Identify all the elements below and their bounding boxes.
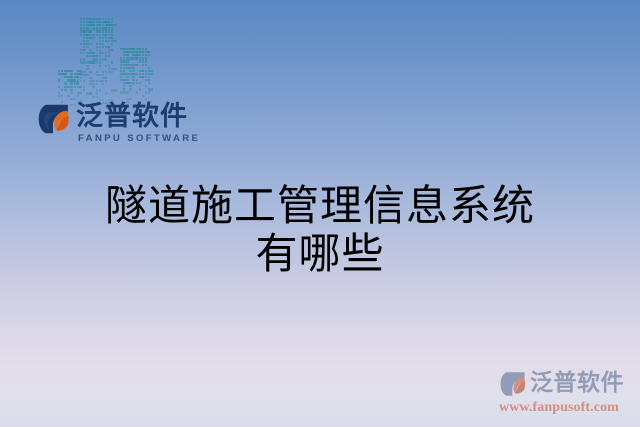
pixel-block [89,49,91,51]
pixel-block [123,79,125,81]
pixel-block [120,76,122,78]
pixel-block [96,34,98,36]
pixel-block [58,70,60,72]
pixel-block [89,21,91,23]
pixel-block [99,24,101,26]
pixel-block [99,34,101,36]
pixel-block [148,73,154,75]
pixel-block [96,30,102,32]
pixel-block [126,48,128,50]
pixel-block [148,88,154,90]
pixel-block [108,27,110,29]
pixel-block [129,57,131,59]
pixel-block [126,57,128,59]
pixel-block [58,92,60,94]
pixel-block [123,48,125,50]
pixel-block [86,68,88,70]
pixel-block [86,46,88,48]
pixel-block [129,82,135,84]
pixel-block [145,91,147,93]
pixel-block [86,65,88,67]
pixel-block [126,82,128,84]
pixel-block [64,70,66,72]
pixel-block [99,37,101,39]
pixel-block [83,43,89,45]
pixel-block [102,40,104,42]
pixel-block [80,71,86,73]
pixel-block [126,79,128,81]
page-title: 隧道施工管理信息系统 有哪些 [0,183,640,279]
pixel-block [111,27,113,29]
pixel-block [58,86,60,88]
pixel-block [99,21,101,23]
pixel-block [102,30,104,32]
pixel-block [142,76,144,78]
pixel-block [145,64,147,66]
pixel-block [86,34,88,36]
pixel-block [111,18,113,20]
pixel-block [120,64,122,66]
pixel-block [80,24,82,26]
pixel-block [105,34,107,36]
pixel-block [120,60,126,62]
pixel-block [92,21,94,23]
pixel-block [61,70,63,72]
pixel-block [67,95,69,97]
pixel-block [129,64,131,66]
pixel-block [120,57,122,59]
pixel-block [96,89,98,91]
pixel-block [70,73,72,75]
pixel-block [99,18,101,20]
pixel-block [99,58,101,60]
watermark-brand-name: 泛普软件 [530,368,624,396]
pixel-block [99,43,105,45]
pixel-block [111,49,113,51]
pixel-block [77,92,83,94]
pixel-block [77,76,79,78]
pixel-block [145,57,147,59]
pixel-block [92,37,94,39]
pixel-block [108,71,114,73]
pixel-block [132,48,134,50]
pixel-block [111,30,113,32]
pixel-block [142,70,144,72]
pixel-block [139,82,141,84]
pixel-block [123,85,125,87]
pixel-block [70,92,72,94]
pixel-block [89,34,95,36]
pixel-block [83,86,85,88]
pixel-block [148,67,150,69]
pixel-block [132,67,134,69]
pixel-block [108,18,110,20]
pixel-block [136,91,138,93]
pixel-block [142,48,144,50]
pixel-block [132,79,134,81]
pixel-block [123,70,125,72]
pixel-block [126,51,132,53]
pixel-block [89,80,95,82]
pixel-block [80,18,82,20]
pixel-block [120,70,122,72]
pixel-block [123,88,125,90]
pixel-block [102,71,104,73]
pixel-block [139,60,141,62]
pixel-block [96,43,98,45]
pixel-block [102,58,108,60]
pixel-block [126,54,128,56]
watermark: 泛普软件 www.fanpusoft.com [498,366,634,422]
pixel-block [108,52,110,54]
pixel-block [105,65,107,67]
pixel-block [86,74,88,76]
pixel-block [74,82,80,84]
pixel-block [96,49,98,51]
pixel-block [86,40,88,42]
pixel-block [139,88,141,90]
pixel-block [96,55,98,57]
pixel-block [108,40,110,42]
pixel-block [120,91,126,93]
pixel-block [89,92,91,94]
pixel-block [108,21,110,23]
pixel-block [145,48,147,50]
pixel-block [99,49,101,51]
fanpu-logo-mark-icon [38,102,72,136]
pixel-block [148,91,150,93]
pixel-block [145,73,147,75]
brand-name-english: FANPU SOFTWARE [78,133,200,144]
pixel-block [74,86,76,88]
pixel-block [102,18,104,20]
pixel-block [83,89,85,91]
poster-canvas: 泛普软件 FANPU SOFTWARE 隧道施工管理信息系统 有哪些 泛普软件 … [0,0,640,427]
pixel-block [92,86,94,88]
pixel-block [136,57,138,59]
watermark-url: www.fanpusoft.com [499,400,619,416]
pixel-block [83,30,85,32]
pixel-block [96,96,98,98]
pixel-block [89,43,91,45]
pixel-block [145,70,147,72]
pixel-block [89,37,91,39]
pixel-block [70,70,72,72]
pixel-block [80,43,82,45]
pixel-block [92,83,94,85]
pixel-block [96,92,98,94]
pixel-block [111,43,113,45]
pixel-block [145,60,147,62]
pixel-block [80,80,82,82]
pixel-block [105,40,107,42]
pixel-block [145,54,147,56]
pixel-block [139,73,141,75]
pixel-block [83,58,85,60]
pixel-block [136,79,138,81]
pixel-block [129,67,131,69]
pixel-block [105,30,107,32]
pixel-block [108,65,110,67]
pixel-block [92,52,94,54]
pixel-block [96,46,98,48]
pixel-block [89,18,91,20]
pixel-block [136,54,142,56]
pixel-block [83,37,85,39]
pixel-block [61,95,63,97]
pixel-block [126,91,128,93]
pixel-block [83,46,85,48]
pixel-block [148,54,150,56]
pixel-block [83,24,85,26]
pixel-block [58,79,60,81]
pixel-block [148,79,150,81]
pixel-block [80,74,86,76]
pixel-block [99,27,101,29]
pixel-block [142,95,144,97]
pixel-block [148,82,150,84]
pixel-block [99,40,101,42]
pixel-block [139,57,141,59]
pixel-block [111,34,113,36]
brand-name-chinese: 泛普软件 [76,100,188,132]
pixel-block [142,51,144,53]
pixel-block [74,79,76,81]
pixel-block [108,46,110,48]
pixel-block [86,55,88,57]
pixel-block [142,64,144,66]
pixel-block [77,86,83,88]
pixel-block [92,24,94,26]
pixel-block [83,52,85,54]
pixel-block [96,27,98,29]
pixel-block [99,80,105,82]
pixel-block [105,92,107,94]
pixel-block [108,30,110,32]
pixel-block [83,27,85,29]
pixel-block [105,18,107,20]
pixel-block [120,67,122,69]
pixel-block [102,24,104,26]
pixel-block [111,24,117,26]
pixel-block [61,89,63,91]
pixel-block [102,83,104,85]
pixel-block [148,76,150,78]
pixel-block [108,55,110,57]
brand-logo-lockup: 泛普软件 FANPU SOFTWARE [38,100,188,152]
pixel-block [77,95,79,97]
pixel-block [58,95,60,97]
pixel-block [96,74,102,76]
pixel-block [111,40,117,42]
pixel-block [70,89,72,91]
fanpu-logo-mark-faded-icon [500,370,528,398]
pixel-block [123,64,129,66]
pixel-block [145,76,147,78]
pixel-block [83,40,85,42]
pixel-block [80,21,82,23]
pixel-block [148,51,150,53]
pixel-block [99,52,105,54]
pixel-block [80,58,82,60]
pixel-block [126,76,128,78]
pixel-block [67,86,73,88]
pixel-block [83,18,85,20]
pixel-block [111,37,113,39]
pixel-block [132,73,138,75]
pixel-block [145,85,147,87]
pixel-block [89,77,91,79]
pixel-block [123,73,125,75]
pixel-block [96,80,98,82]
pixel-block [92,27,94,29]
pixel-block [123,57,125,59]
pixel-block [86,52,88,54]
pixel-block [89,71,91,73]
pixel-block [92,58,98,60]
pixel-block [102,37,104,39]
pixel-block [102,46,104,48]
pixel-block [89,30,91,32]
pixel-block [111,89,117,91]
pixel-block [111,61,113,63]
pixel-block [105,27,107,29]
pixel-block [142,60,144,62]
pixel-block [92,61,98,63]
pixel-block [105,80,107,82]
pixel-block [64,86,66,88]
pixel-block [132,76,134,78]
pixel-block [111,21,113,23]
pixel-block [99,61,101,63]
pixel-block [142,54,144,56]
pixel-block [136,82,138,84]
pixel-block [129,85,131,87]
pixel-block [105,77,107,79]
pixel-block [64,76,66,78]
pixel-block [70,76,72,78]
pixel-block [83,49,85,51]
pixel-block [136,64,138,66]
pixel-block [99,55,101,57]
pixel-block [96,71,98,73]
pixel-block [80,34,82,36]
pixel-block [83,80,85,82]
pixel-block [64,89,66,91]
pixel-block [126,73,128,75]
pixel-block [142,73,144,75]
pixel-block [64,82,66,84]
pixel-block [108,34,110,36]
pixel-block [67,70,69,72]
pixel-block [139,48,141,50]
pixel-block [129,88,131,90]
pixel-block [99,65,101,67]
pixel-block [99,89,101,91]
pixel-block [142,57,144,59]
pixel-block [148,70,154,72]
pixel-block [102,74,104,76]
pixel-block [105,37,107,39]
pixel-block [129,70,135,72]
pixel-block [64,73,66,75]
pixel-block [126,60,128,62]
pixel-block-skyline-decoration [58,18,208,110]
pixel-block [86,27,88,29]
pixel-block [80,27,82,29]
pixel-block [92,96,94,98]
pixel-block [105,52,107,54]
pixel-block [70,82,72,84]
pixel-block [89,83,91,85]
pixel-block [99,46,101,48]
pixel-block [80,52,82,54]
pixel-block [108,68,110,70]
pixel-block [77,79,79,81]
pixel-block [96,83,98,85]
pixel-block [123,67,129,69]
pixel-block [80,77,82,79]
pixel-block [111,68,117,70]
pixel-block [105,71,107,73]
pixel-block [83,21,85,23]
pixel-block [80,61,86,63]
